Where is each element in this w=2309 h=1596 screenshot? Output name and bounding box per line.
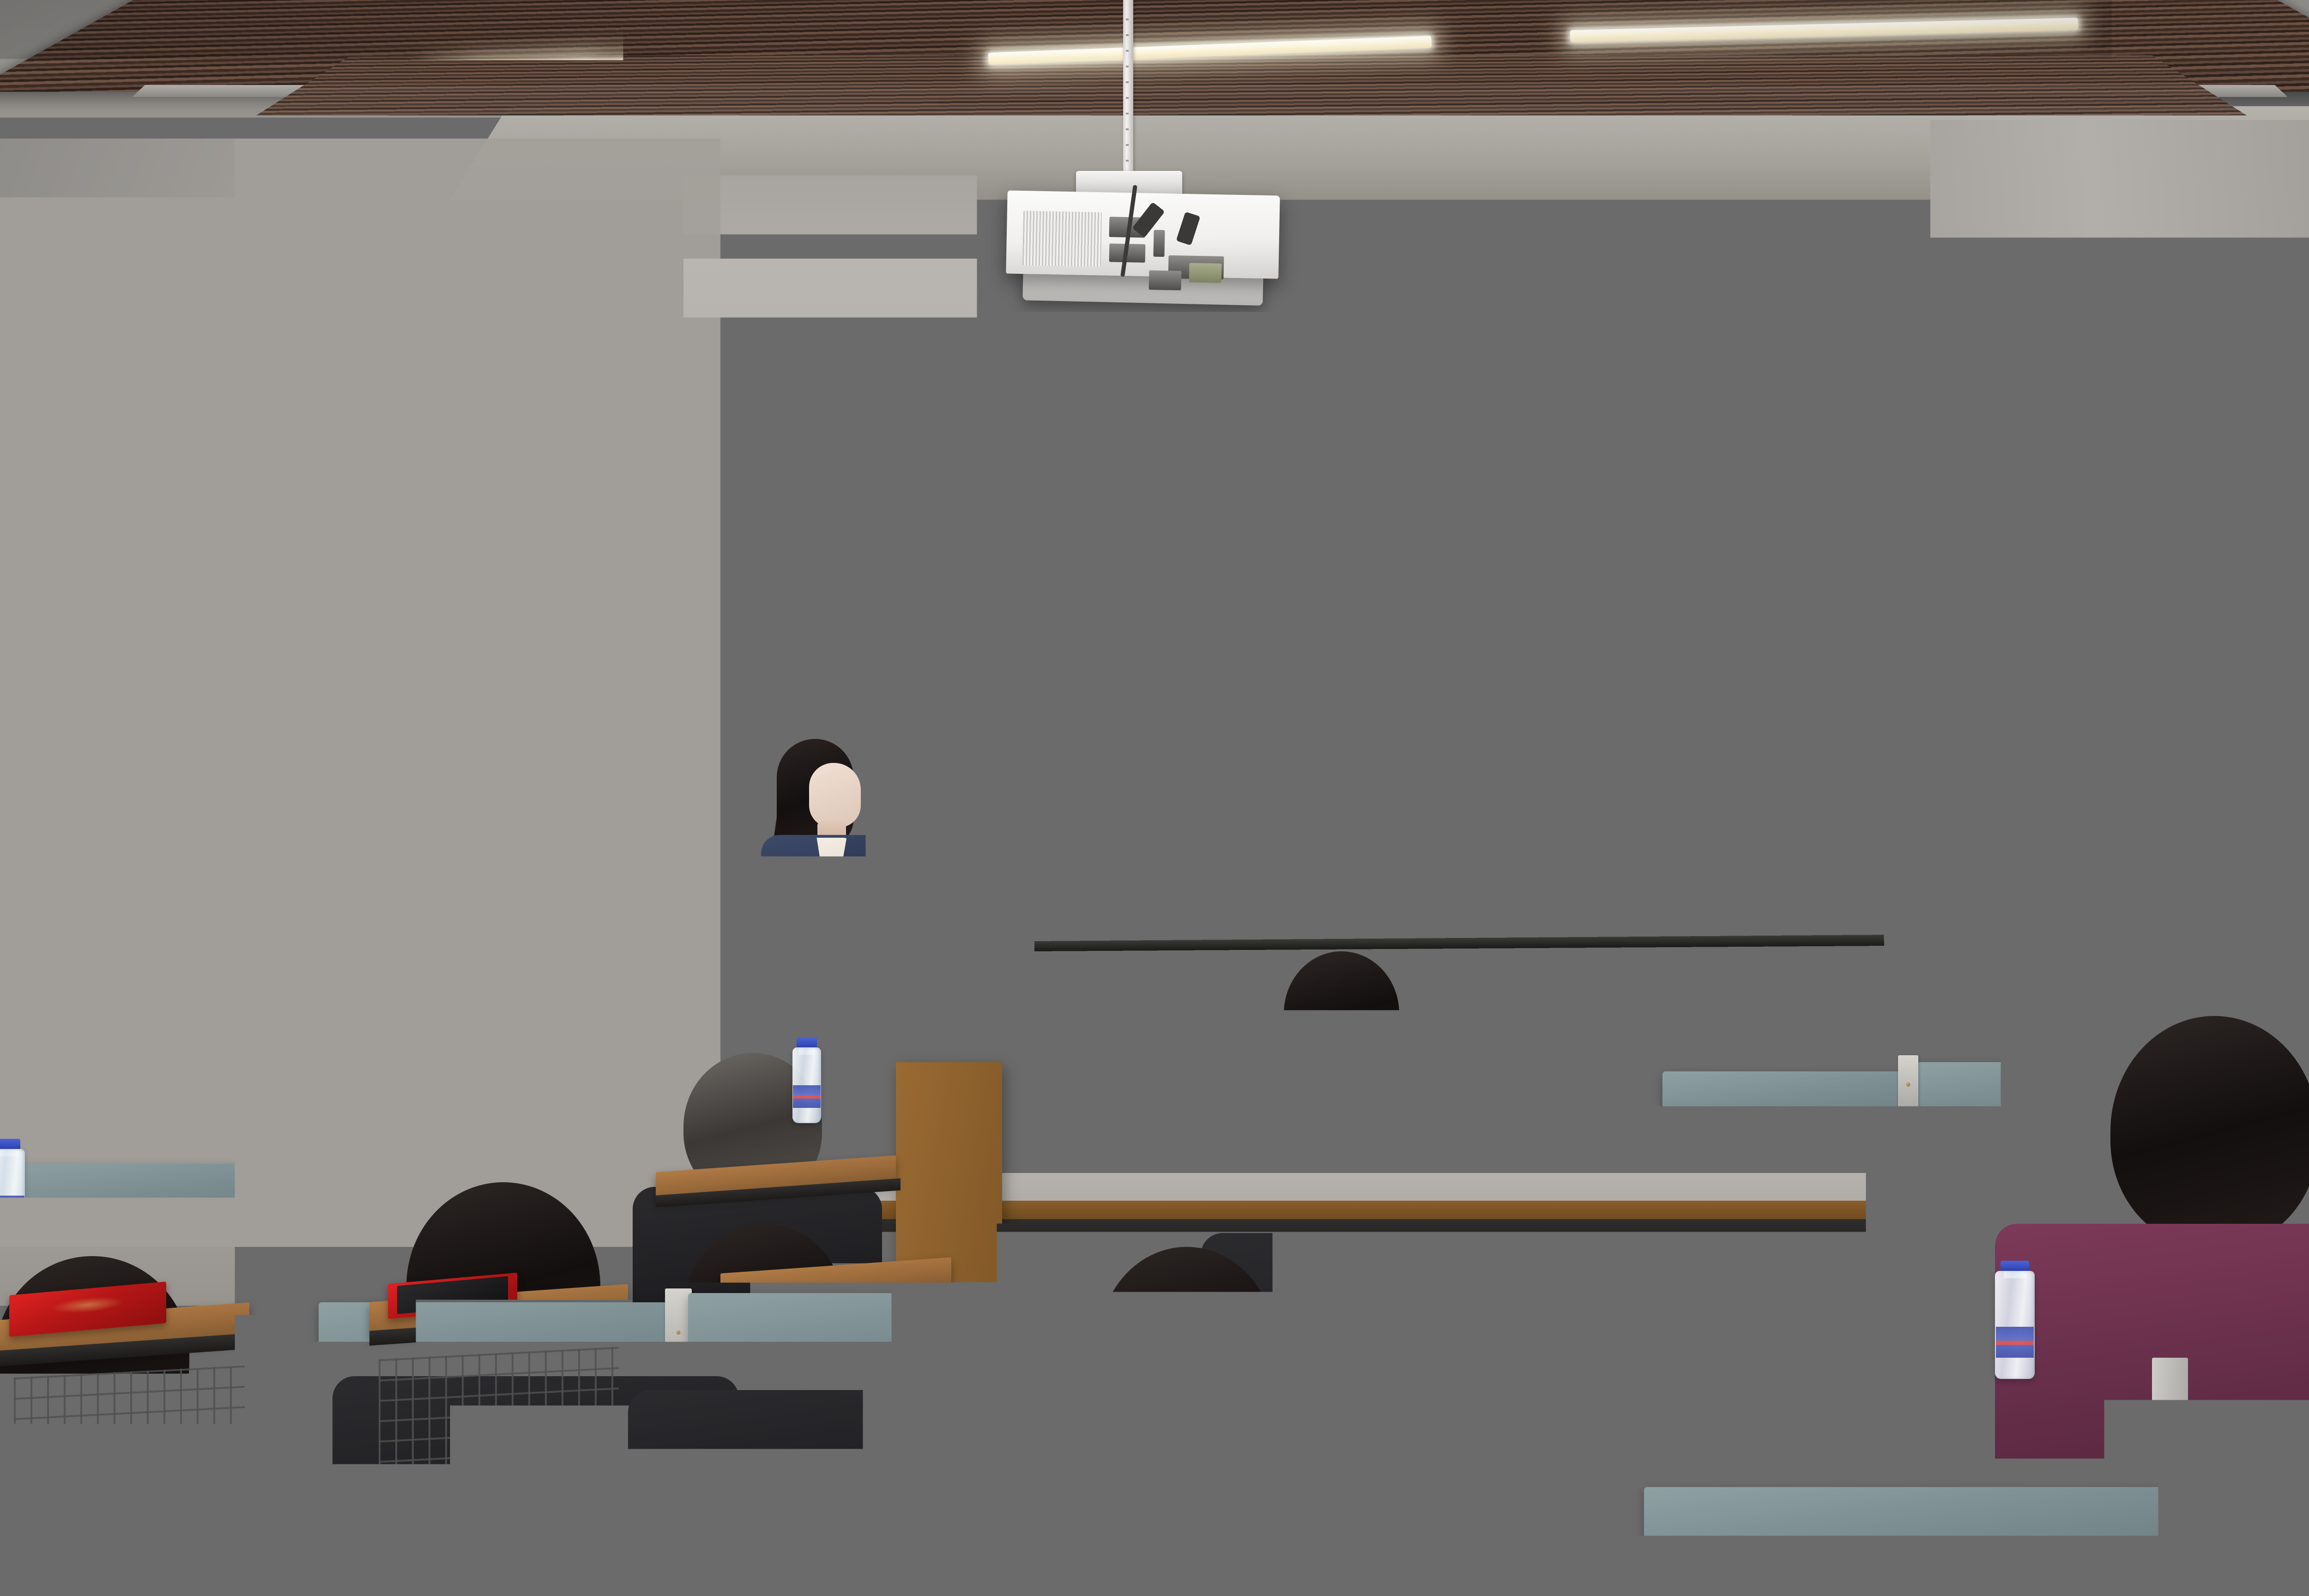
slide-bullet-row: 一对一谈话不少于10人次 [1047, 546, 1838, 603]
projector-status-display [1189, 263, 1222, 283]
slide-bullet-row: 密切关注学业、心理问题学生 [1048, 677, 1839, 726]
eyeglasses [424, 992, 456, 1002]
bottle-body [1930, 1331, 1975, 1455]
bullet-marker-circle [1006, 682, 1051, 727]
lecture-seat[interactable] [993, 1492, 1639, 1596]
camera-lens-icon [477, 306, 489, 316]
bottle-label [793, 1085, 821, 1107]
slide-logo-icon [967, 428, 1002, 463]
bottle-body [312, 1237, 349, 1336]
water-bottle[interactable] [0, 1139, 25, 1240]
bottle-label [347, 1127, 376, 1150]
bottle-label [313, 1288, 349, 1317]
presentation-slide: 物理学院班主任考核指标研讨 20级班主任考核内容 做好大创、数 [945, 388, 1860, 955]
bottle-body [868, 1098, 901, 1183]
lecture-seat[interactable] [1644, 1487, 2309, 1596]
under-desk-basket [379, 1347, 619, 1470]
projection-screen: 物理学院班主任考核指标研讨 20级班主任考核内容 做好大创、数 [931, 260, 1871, 969]
under-desk-basket [14, 1366, 245, 1484]
power-outlet[interactable] [1696, 1029, 1717, 1059]
slide-bullet-row: 做好大创、数学建模等科研能力提升辅导 [1047, 481, 1838, 542]
bottle-body [1772, 1169, 1807, 1264]
air-conditioner-display [289, 785, 302, 817]
bottle-label [1861, 1319, 1899, 1350]
air-conditioner-vent [227, 794, 237, 905]
folder-emblem-icon [52, 1294, 124, 1316]
water-bottle[interactable] [2077, 1164, 2112, 1269]
wall-seam [513, 286, 515, 1164]
person-head [323, 933, 439, 1058]
bottle-label [869, 1141, 900, 1166]
slide-bullet-row: 与每名转专业、降级、休复学学生进行一对一谈话 [1048, 611, 1839, 664]
bottle-label [1432, 1063, 1459, 1084]
eyeglasses [139, 1034, 171, 1045]
person-head [1099, 1247, 1275, 1441]
phone-screen [1855, 989, 1887, 1041]
water-bottle[interactable] [868, 1088, 901, 1183]
bottle-label [1931, 1396, 1974, 1430]
bottle-label [273, 1187, 306, 1214]
bottle-label [0, 1196, 24, 1222]
bullet-bar: 开展两次班级集体活动 [1049, 743, 1840, 789]
security-camera-icon [466, 299, 502, 322]
person-head [683, 1224, 845, 1399]
person-head [2110, 1016, 2309, 1247]
seat-armrest-divider [1612, 1473, 1642, 1596]
water-bottle[interactable] [312, 1227, 349, 1336]
bullet-text: 一对一谈话不少于10人次 [1065, 558, 1365, 597]
bottle-label [898, 1082, 926, 1104]
bullet-bar: 做好大创、数学建模等科研能力提升辅导 [1047, 483, 1838, 540]
bullet-text: 开展两次班级集体活动 [1067, 747, 1335, 783]
atom-nucleus-icon [244, 319, 262, 337]
eyeglasses [2224, 965, 2256, 975]
bullet-text: 密切关注学业、心理问题学生 [1066, 684, 1416, 721]
panel-shadow [290, 226, 322, 628]
water-bottle[interactable] [1772, 1159, 1807, 1264]
water-bottle[interactable] [1860, 1253, 1900, 1372]
screen-surface: 物理学院班主任考核指标研讨 20级班主任考核内容 做好大创、数 [944, 275, 1860, 955]
bullet-bar: 与每名转专业、降级、休复学学生进行一对一谈话 [1048, 613, 1839, 663]
projector-port [1153, 230, 1165, 257]
lecture-hall-photo: 吉林大学物理学院 College of Physics, Jilin Unive… [0, 0, 2309, 1596]
bullet-marker-circle [1005, 621, 1050, 665]
water-bottle[interactable] [792, 1037, 821, 1123]
slide-vertical-label: 20级班主任考核内容 [966, 494, 995, 927]
water-bottle[interactable] [272, 1130, 307, 1232]
laptop[interactable]: hp [823, 864, 929, 914]
seat-armrest-divider [323, 1455, 353, 1596]
folder-contents [397, 1276, 508, 1314]
air-conditioner-vent [227, 917, 237, 1032]
water-bottle[interactable] [1432, 1016, 1459, 1099]
presenter-face [809, 763, 861, 828]
projector-pole-holes [1126, 18, 1129, 175]
bottle-label [1773, 1218, 1807, 1245]
laptop-brand-logo: hp [868, 882, 884, 900]
water-bottle[interactable] [1995, 1261, 2035, 1379]
lecture-seat[interactable] [277, 1473, 785, 1596]
water-bottle[interactable] [898, 1033, 927, 1120]
bottle-body [272, 1140, 307, 1232]
seat-armrest-divider [240, 1051, 260, 1150]
slide-body: 20级班主任考核内容 做好大创、数学建模等科研能力提升辅导 [945, 463, 1860, 950]
bottle-body [0, 1149, 25, 1240]
bullet-text: 与每名转专业、降级、休复学学生进行一对一谈话 [1066, 619, 1669, 659]
lecture-seat[interactable] [0, 1062, 240, 1150]
bottle-label [2078, 1223, 2112, 1250]
seat-armrest-divider [1898, 1055, 1918, 1159]
bullet-bar: 密切关注学业、心理问题学生 [1048, 678, 1839, 725]
lecture-seat[interactable] [0, 1164, 249, 1270]
speaker-port [2191, 328, 2218, 334]
wall-branding-panel: 吉林大学物理学院 College of Physics, Jilin Unive… [184, 226, 322, 628]
projector-exhaust-grill [1022, 211, 1102, 266]
water-bottle[interactable] [346, 1076, 377, 1167]
water-bottle[interactable] [1930, 1321, 1975, 1455]
bottle-body [1995, 1271, 2035, 1379]
lecture-seat[interactable] [1662, 1071, 1903, 1164]
wall-speaker-right [2171, 293, 2237, 378]
slide-title: 物理学院班主任考核指标研讨 [1013, 408, 1508, 470]
bullet-bar: 一对一谈话不少于10人次 [1047, 548, 1838, 601]
wall-speaker-left [546, 341, 602, 423]
slide-bullet-list: 做好大创、数学建模等科研能力提升辅导 一对一谈话不少于10人次 [1047, 478, 1842, 940]
bottle-body [1860, 1263, 1900, 1372]
bullet-marker-circle [1006, 744, 1051, 788]
speaker-port [563, 375, 586, 380]
bottle-label [1996, 1327, 2034, 1358]
bottle-body [2077, 1174, 2112, 1269]
slide-bullet-row: 开展两次班级集体活动 [1049, 742, 1840, 791]
